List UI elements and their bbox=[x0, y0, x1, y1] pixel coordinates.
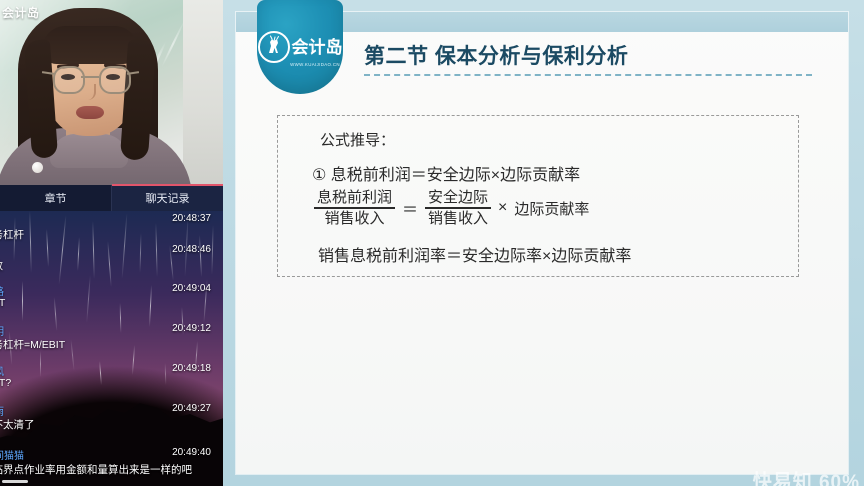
chat-timestamp: 20:49:12 bbox=[172, 323, 211, 334]
fraction-right: 安全边际 销售收入 bbox=[425, 189, 491, 228]
brand-url-text: WWW.KUAIJIDAO.CN bbox=[287, 62, 343, 67]
tab-chat-log-label: 聊天记录 bbox=[146, 190, 190, 206]
fraction-left-denominator: 销售收入 bbox=[322, 209, 388, 227]
chat-message-text: 听不太清了 bbox=[0, 417, 35, 432]
instructor-collar bbox=[50, 134, 128, 168]
chat-message-text: 和临界点作业率用金额和量算出来是一样的吧 bbox=[0, 462, 192, 477]
chat-timestamp: 20:48:37 bbox=[172, 213, 211, 224]
instructor-mouth bbox=[76, 106, 104, 119]
equation-tail-term: 边际贡献率 bbox=[514, 198, 589, 219]
glasses-bridge bbox=[81, 76, 99, 78]
chat-timestamp: 20:49:40 bbox=[172, 447, 211, 458]
star-trail bbox=[211, 225, 213, 275]
chat-timestamp: 20:49:04 bbox=[172, 283, 211, 294]
chat-username: 夜间猫猫 bbox=[0, 447, 24, 462]
brand-logo-badge: 会计岛 WWW.KUAIJIDAO.CN bbox=[257, 0, 343, 94]
star-trail bbox=[92, 221, 94, 279]
slide-viewport: 会计岛 WWW.KUAIJIDAO.CN 第二节 保本分析与保利分析 公式推导：… bbox=[223, 0, 864, 486]
lecture-player-screen: 会计岛 章节 聊天记录 静 20:48:37 财务杠杆 雅 20:48:46 系… bbox=[0, 0, 864, 486]
chat-scrollbar[interactable] bbox=[2, 480, 28, 483]
panel-tab-bar: 章节 聊天记录 bbox=[0, 185, 223, 211]
brand-name-text: 会计岛 bbox=[292, 39, 343, 56]
player-watermark: 快易知 60% bbox=[753, 466, 860, 486]
glasses-lens-right bbox=[99, 66, 131, 94]
star-trail bbox=[86, 275, 91, 323]
star-trail bbox=[59, 215, 67, 285]
fraction-right-numerator: 安全边际 bbox=[425, 189, 491, 207]
star-trail bbox=[22, 281, 23, 321]
glasses-lens-left bbox=[53, 66, 85, 94]
webcam-watermark-logo: 会计岛 bbox=[2, 4, 40, 21]
chat-username: 明明 bbox=[0, 323, 4, 338]
tab-chat-log[interactable]: 聊天记录 bbox=[112, 185, 223, 211]
times-sign: × bbox=[498, 199, 507, 217]
chat-username: 小雨 bbox=[0, 403, 4, 418]
star-trail bbox=[165, 363, 167, 385]
star-trail bbox=[122, 213, 128, 279]
star-trail bbox=[77, 237, 80, 271]
chat-timestamp: 20:49:18 bbox=[172, 363, 211, 374]
star-trail bbox=[199, 235, 202, 277]
chat-username: 小路 bbox=[0, 283, 4, 298]
chat-message-text: EBIT bbox=[0, 297, 5, 309]
star-trail bbox=[140, 233, 142, 273]
equals-sign: ＝ bbox=[402, 196, 418, 220]
chat-timestamp: 20:48:46 bbox=[172, 244, 211, 255]
chat-log-list[interactable]: 静 20:48:37 财务杠杆 雅 20:48:46 系数 小路 20:49:0… bbox=[0, 211, 223, 486]
star-trail bbox=[54, 297, 57, 331]
formula-heading: 公式推导： bbox=[320, 129, 395, 150]
star-trail bbox=[155, 223, 157, 277]
star-trail bbox=[120, 303, 122, 333]
chat-message-text: 系数 bbox=[0, 258, 3, 273]
title-dashed-rule bbox=[364, 74, 812, 76]
star-trail bbox=[40, 351, 41, 377]
star-trail bbox=[29, 211, 32, 273]
formula-box: 公式推导： ① 息税前利润＝安全边际×边际贡献率 息税前利润 销售收入 ＝ 安全… bbox=[277, 115, 799, 277]
chat-message-text: 财务杠杆=M/EBIT bbox=[0, 337, 65, 352]
star-trail bbox=[70, 339, 74, 371]
star-trail bbox=[149, 285, 152, 327]
left-panel: 会计岛 章节 聊天记录 静 20:48:37 财务杠杆 雅 20:48:46 系… bbox=[0, 0, 223, 486]
chat-timestamp: 20:49:27 bbox=[172, 403, 211, 414]
star-trail bbox=[132, 345, 135, 375]
fraction-left-numerator: 息税前利润 bbox=[314, 189, 395, 207]
page-title: 第二节 保本分析与保利分析 bbox=[364, 40, 628, 70]
star-trail bbox=[46, 229, 49, 267]
fraction-right-denominator: 销售收入 bbox=[425, 209, 491, 227]
chat-message-text: EBIT? bbox=[0, 377, 11, 389]
webcam-background-wall bbox=[183, 0, 223, 185]
star-trail bbox=[107, 241, 111, 287]
fraction-left: 息税前利润 销售收入 bbox=[314, 189, 395, 228]
tab-chapters[interactable]: 章节 bbox=[0, 185, 112, 211]
instructor-fringe bbox=[42, 26, 138, 64]
instructor-webcam-video[interactable]: 会计岛 bbox=[0, 0, 223, 185]
microphone-icon bbox=[32, 162, 43, 173]
chat-message-text: 财务杠杆 bbox=[0, 227, 24, 242]
slide-page: 会计岛 WWW.KUAIJIDAO.CN 第二节 保本分析与保利分析 公式推导：… bbox=[236, 12, 848, 474]
formula-line-one: ① 息税前利润＝安全边际×边际贡献率 bbox=[312, 161, 580, 185]
tab-chapters-label: 章节 bbox=[45, 190, 67, 206]
chat-username: 清风 bbox=[0, 363, 4, 378]
formula-line-three: 销售息税前利润率＝安全边际率×边际贡献率 bbox=[318, 242, 631, 266]
deer-icon bbox=[258, 31, 290, 63]
star-trail bbox=[99, 361, 102, 385]
formula-equation: 息税前利润 销售收入 ＝ 安全边际 销售收入 × 边际贡献率 bbox=[314, 189, 589, 228]
